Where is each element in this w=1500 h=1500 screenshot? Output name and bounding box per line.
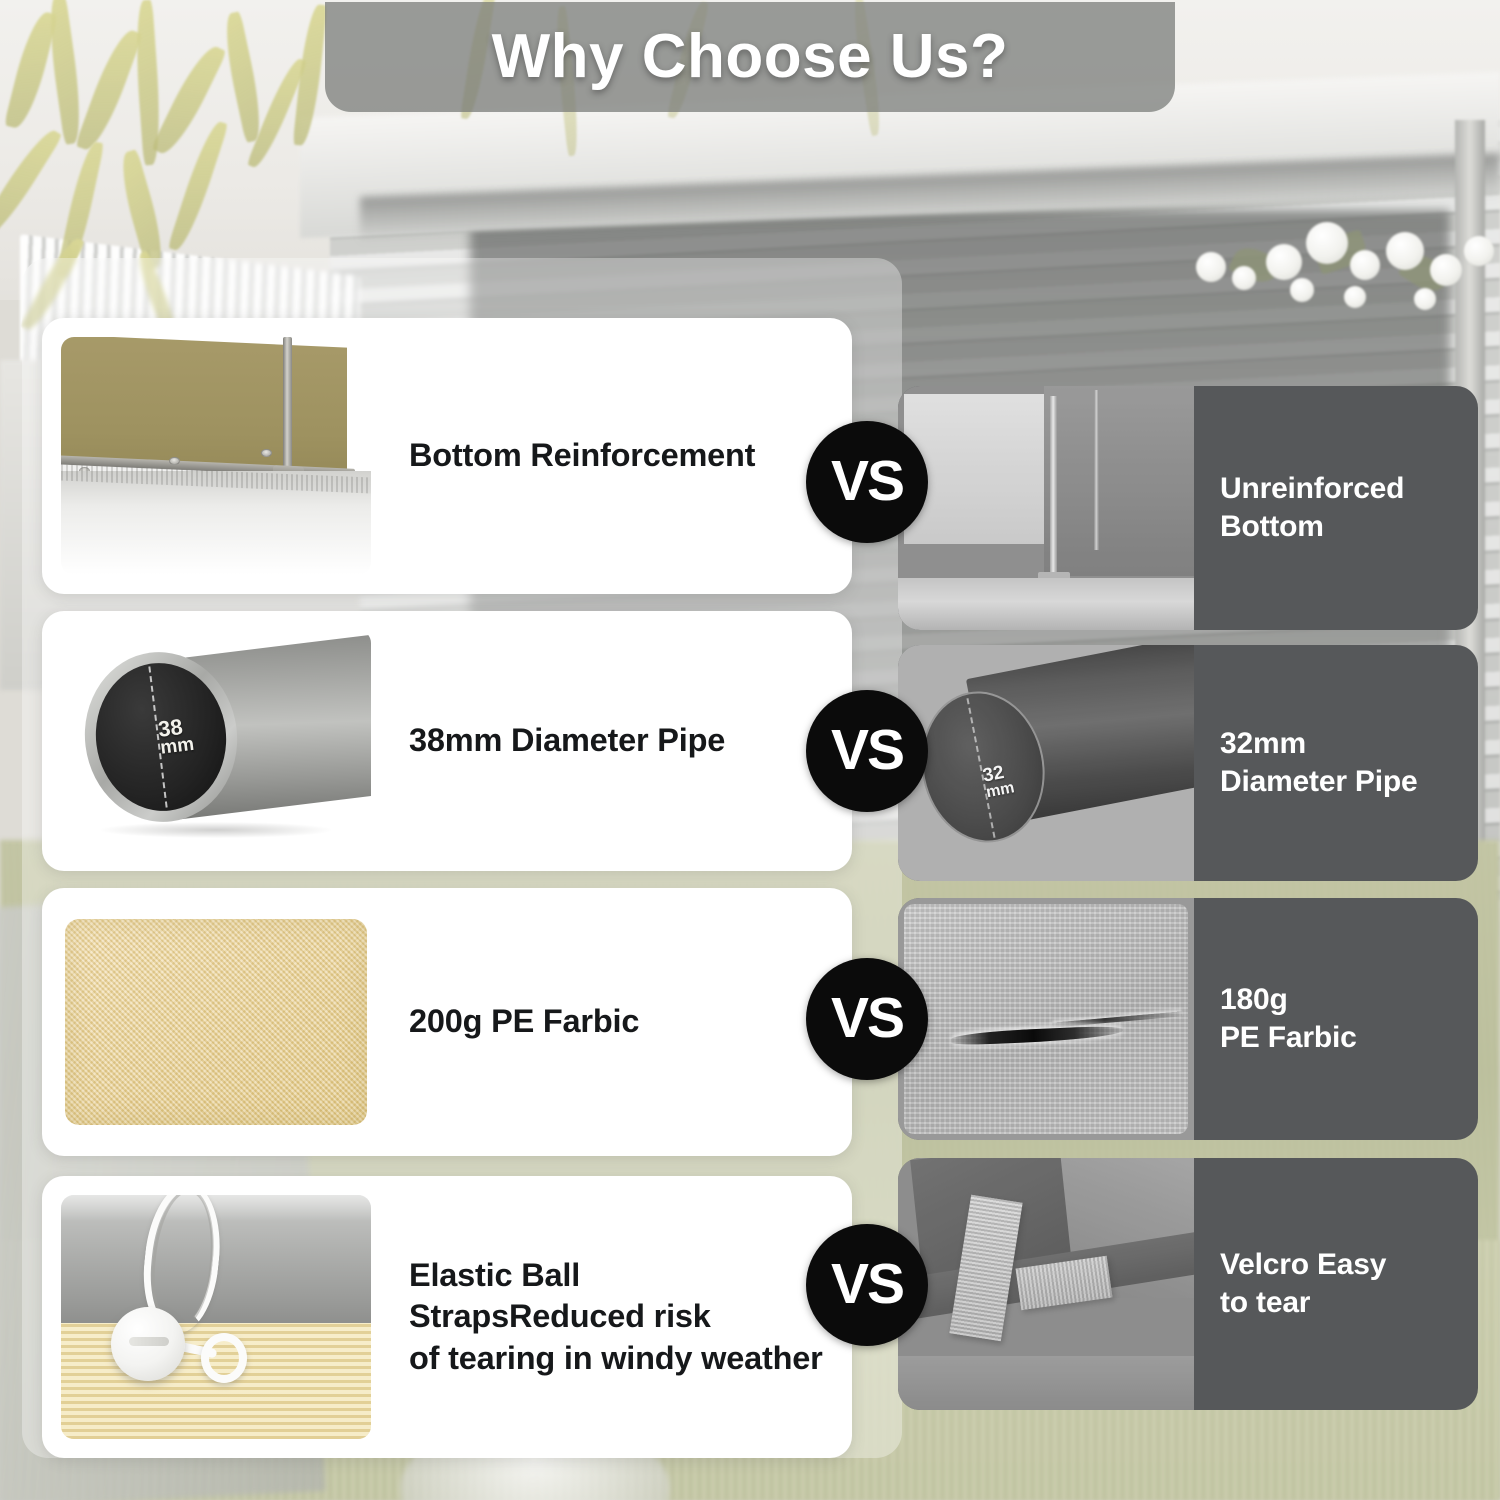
- pro-card-38mm-pipe[interactable]: 38 mm 38mm Diameter Pipe: [42, 611, 852, 871]
- pro-label-bottom-reinforcement: Bottom Reinforcement: [371, 435, 852, 477]
- con-label-32mm-pipe: 32mm Diameter Pipe: [1194, 725, 1478, 801]
- vs-badge-row-1: VS: [806, 421, 928, 543]
- fabric-180g-torn-photo: [898, 898, 1194, 1140]
- vs-badge-label-3: VS: [831, 990, 903, 1047]
- con-label-velcro: Velcro Easy to tear: [1194, 1246, 1478, 1322]
- vs-badge-row-2: VS: [806, 690, 928, 812]
- fabric-200g-swatch: [61, 907, 371, 1137]
- pro-card-bottom-reinforcement[interactable]: Bottom Reinforcement: [42, 318, 852, 594]
- unreinforced-bottom-photo: [898, 386, 1194, 630]
- pipe-38mm-photo: 38 mm: [61, 630, 371, 852]
- pro-label-38mm-pipe: 38mm Diameter Pipe: [371, 720, 852, 762]
- header-banner: Why Choose Us?: [325, 2, 1175, 112]
- vs-badge-label-1: VS: [831, 453, 903, 510]
- vs-badge-row-4: VS: [806, 1224, 928, 1346]
- con-panel-180g-fabric[interactable]: 180g PE Farbic: [898, 898, 1478, 1140]
- con-panel-32mm-pipe[interactable]: 32 mm 32mm Diameter Pipe: [898, 645, 1478, 881]
- vs-badge-label-4: VS: [831, 1256, 903, 1313]
- con-label-180g-fabric: 180g PE Farbic: [1194, 981, 1478, 1057]
- vs-badge-label-2: VS: [831, 722, 903, 779]
- con-label-unreinforced-bottom: Unreinforced Bottom: [1194, 470, 1478, 546]
- pro-card-elastic-ball-straps[interactable]: Elastic Ball StrapsReduced risk of teari…: [42, 1176, 852, 1458]
- pro-label-200g-fabric: 200g PE Farbic: [371, 1001, 852, 1043]
- con-panel-velcro[interactable]: Velcro Easy to tear: [898, 1158, 1478, 1410]
- page-title: Why Choose Us?: [492, 26, 1009, 88]
- elastic-ball-strap-photo: [61, 1195, 371, 1439]
- pro-card-200g-fabric[interactable]: 200g PE Farbic: [42, 888, 852, 1156]
- pro-label-elastic-ball-straps: Elastic Ball StrapsReduced risk of teari…: [371, 1255, 852, 1380]
- vs-badge-row-3: VS: [806, 958, 928, 1080]
- reinforced-bottom-photo: [61, 337, 371, 575]
- pipe-32mm-photo: 32 mm: [898, 645, 1194, 881]
- con-panel-unreinforced-bottom[interactable]: Unreinforced Bottom: [898, 386, 1478, 630]
- velcro-strips-photo: [898, 1158, 1194, 1410]
